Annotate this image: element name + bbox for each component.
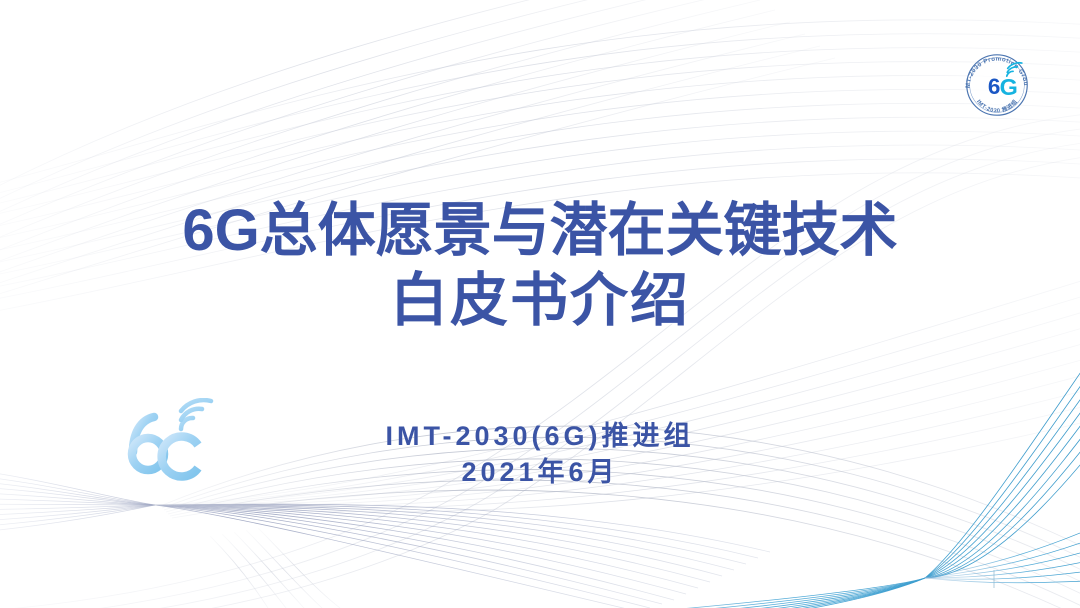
title-line-1: 6G总体愿景与潜在关键技术: [0, 196, 1080, 266]
svg-text:G: G: [1000, 74, 1018, 100]
subtitle: IMT-2030(6G)推进组 2021年6月: [0, 418, 1080, 490]
subtitle-date: 2021年6月: [0, 454, 1080, 490]
page-title: 6G总体愿景与潜在关键技术 白皮书介绍: [0, 196, 1080, 336]
svg-text:6: 6: [988, 74, 1000, 99]
title-line-2: 白皮书介绍: [0, 266, 1080, 336]
title-slide: IMT-2030 Promotion Group IMT-2030 推进组 6 …: [0, 0, 1080, 608]
imt-2030-seal-logo: IMT-2030 Promotion Group IMT-2030 推进组 6 …: [958, 46, 1036, 124]
subtitle-organization: IMT-2030(6G)推进组: [0, 418, 1080, 454]
